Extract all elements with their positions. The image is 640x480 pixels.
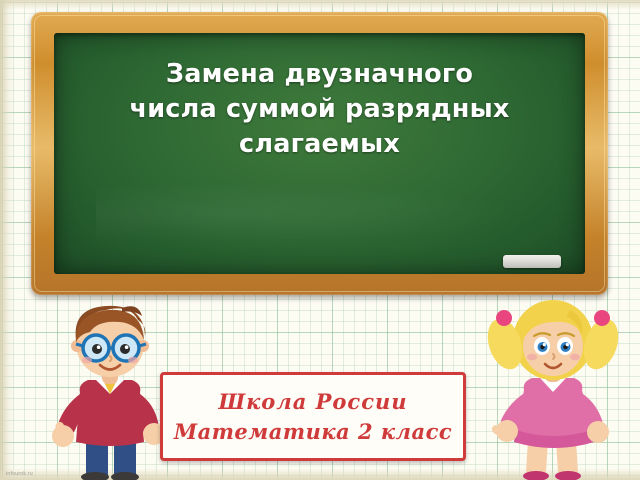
title-line-3: слагаемых bbox=[80, 127, 559, 162]
paper-edge-top bbox=[0, 0, 640, 10]
title-line-1: Замена двузначного bbox=[80, 57, 559, 92]
girl-character bbox=[470, 290, 620, 480]
page-title: Замена двузначного числа суммой разрядны… bbox=[54, 57, 585, 162]
label-plate: Школа России Математика 2 класс bbox=[160, 372, 466, 461]
paper-edge-left bbox=[0, 0, 14, 480]
blackboard-surface: Замена двузначного числа суммой разрядны… bbox=[54, 33, 585, 274]
label-line-school: Школа России bbox=[218, 387, 407, 417]
chalk-eraser-icon bbox=[503, 255, 561, 268]
label-line-subject: Математика 2 класс bbox=[174, 417, 452, 447]
slide-canvas: Замена двузначного числа суммой разрядны… bbox=[0, 0, 640, 480]
blackboard-frame: Замена двузначного числа суммой разрядны… bbox=[31, 12, 608, 295]
title-line-2: числа суммой разрядных bbox=[80, 92, 559, 127]
boy-character bbox=[34, 296, 176, 480]
watermark-text: infourok.ru bbox=[6, 471, 33, 477]
